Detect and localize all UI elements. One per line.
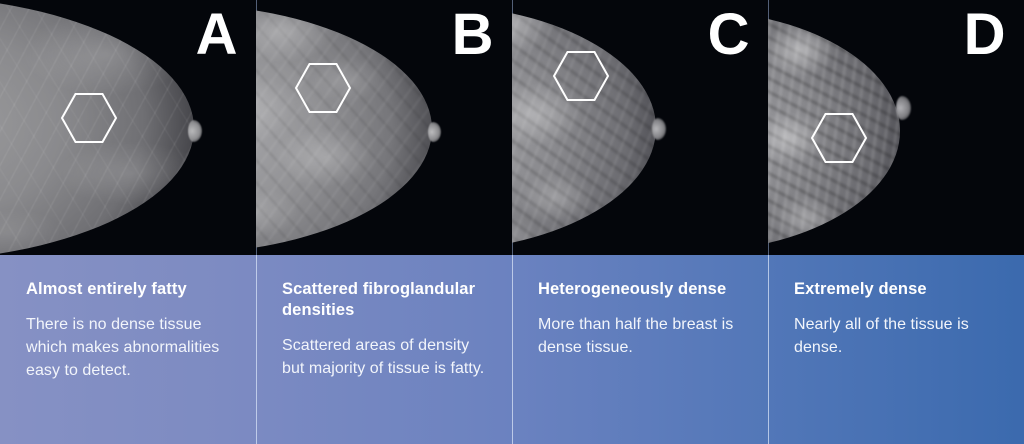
panel-letter-c: C	[708, 6, 750, 64]
breast-silhouette-c	[512, 4, 656, 252]
tissue-texture-c	[512, 4, 656, 252]
caption-title-b: Scattered fibroglandular densities	[282, 279, 488, 321]
caption-strip: Almost entirely fatty There is no dense …	[0, 255, 1024, 444]
hexagon-outline-icon	[552, 50, 610, 102]
nipple-marker-d	[896, 96, 911, 120]
breast-density-figure: A B	[0, 0, 1024, 444]
caption-body-c: More than half the breast is dense tissu…	[538, 314, 744, 359]
panel-letter-d: D	[964, 6, 1006, 64]
caption-panel-d: Extremely dense Nearly all of the tissue…	[768, 255, 1024, 444]
caption-body-a: There is no dense tissue which makes abn…	[26, 314, 232, 382]
caption-body-b: Scattered areas of density but majority …	[282, 335, 488, 380]
nipple-marker-c	[652, 118, 666, 140]
caption-title-a: Almost entirely fatty	[26, 279, 232, 300]
caption-title-d: Extremely dense	[794, 279, 1000, 300]
caption-panel-b: Scattered fibroglandular densities Scatt…	[256, 255, 512, 444]
nipple-marker-b	[428, 122, 441, 142]
caption-panel-a: Almost entirely fatty There is no dense …	[0, 255, 256, 444]
caption-body-d: Nearly all of the tissue is dense.	[794, 314, 1000, 359]
nipple-marker-a	[188, 120, 202, 142]
caption-panel-c: Heterogeneously dense More than half the…	[512, 255, 768, 444]
breast-silhouette-b	[256, 4, 432, 254]
mammogram-panel-d: D	[768, 0, 1024, 255]
panel-letter-a: A	[196, 6, 238, 64]
mammogram-panel-a: A	[0, 0, 256, 255]
hexagon-outline-icon	[294, 62, 352, 114]
tissue-texture-b	[256, 4, 432, 254]
panel-letter-b: B	[452, 6, 494, 64]
mammogram-image-strip: A B	[0, 0, 1024, 255]
mammogram-panel-c: C	[512, 0, 768, 255]
mammogram-panel-b: B	[256, 0, 512, 255]
hexagon-outline-icon	[60, 92, 118, 144]
hexagon-outline-icon	[810, 112, 868, 164]
caption-title-c: Heterogeneously dense	[538, 279, 744, 300]
